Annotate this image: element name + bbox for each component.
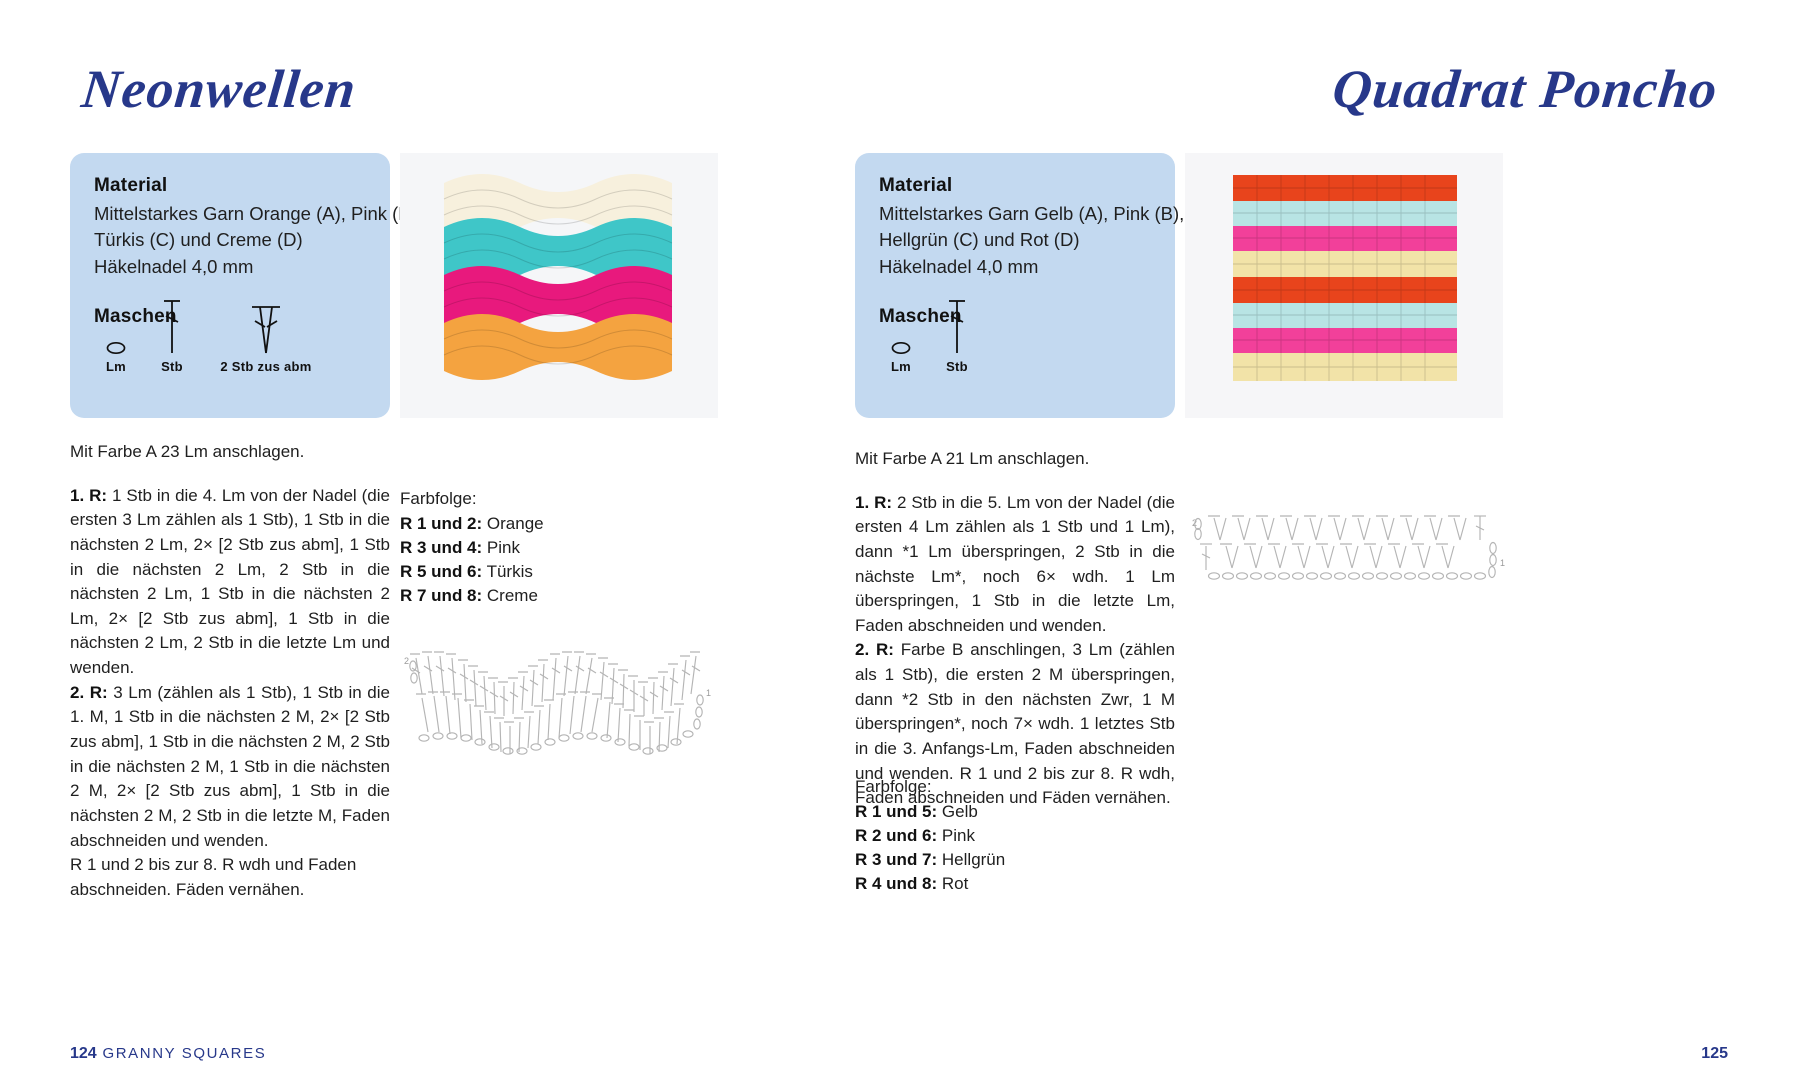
wave-swatch-graphic xyxy=(400,153,718,418)
row-text: 1 Stb in die 4. Lm von der Nadel (die er… xyxy=(70,486,390,677)
colorsequence-value: Orange xyxy=(487,514,544,533)
row-label: 1. R: xyxy=(855,493,892,512)
legend-label: Lm xyxy=(94,359,138,374)
intro-text-right: Mit Farbe A 21 Lm anschlagen. xyxy=(855,447,1175,472)
page-number-right: 125 xyxy=(1701,1045,1728,1062)
colorsequence-value: Gelb xyxy=(942,802,978,821)
colorsequence-value: Pink xyxy=(942,826,975,845)
chart-row-label-1: 1 xyxy=(1500,558,1505,568)
chain-stitch-icon xyxy=(879,299,923,355)
colorsequence-label: R 4 und 8: xyxy=(855,874,937,893)
row-label: 2. R: xyxy=(70,683,108,702)
crochet-chart-left: 2 1 xyxy=(400,630,720,755)
double-crochet-icon xyxy=(150,299,194,355)
colorsequence-label: R 5 und 6: xyxy=(400,562,482,581)
material-line: Türkis (C) und Creme (D) xyxy=(94,227,366,253)
legend-label: Stb xyxy=(935,359,979,374)
legend-item-dc2tog-left: 2 Stb zus abm xyxy=(206,299,326,374)
material-line: Mittelstarkes Garn Orange (A), Pink (B), xyxy=(94,201,366,227)
material-heading-left: Material xyxy=(94,175,366,197)
colorsequence-row: R 3 und 7: Hellgrün xyxy=(855,848,1175,872)
colorsequence-heading: Farbfolge: xyxy=(855,775,1175,800)
legend-label: Stb xyxy=(150,359,194,374)
legend-label: Lm xyxy=(879,359,923,374)
colorsequence-right: Farbfolge: R 1 und 5: Gelb R 2 und 6: Pi… xyxy=(855,775,1175,896)
material-line: Mittelstarkes Garn Gelb (A), Pink (B), xyxy=(879,201,1151,227)
colorsequence-label: R 1 und 5: xyxy=(855,802,937,821)
double-crochet-icon xyxy=(935,299,979,355)
colorsequence-value: Türkis xyxy=(487,562,533,581)
instructions-left: Mit Farbe A 23 Lm anschlagen. 1. R: 1 St… xyxy=(70,440,390,903)
footer-right: 125 xyxy=(1701,1045,1728,1063)
legend-item-dc-left: Stb xyxy=(150,299,194,374)
material-lines-right: Mittelstarkes Garn Gelb (A), Pink (B), H… xyxy=(879,201,1151,280)
chain-stitch-icon xyxy=(94,299,138,355)
legend-item-chain-right: Lm xyxy=(879,299,923,374)
row-text: 3 Lm (zählen als 1 Stb), 1 Stb in die 1.… xyxy=(70,683,390,850)
material-panel-left: Material Mittelstarkes Garn Orange (A), … xyxy=(70,153,390,418)
swatch-photo-left xyxy=(400,153,718,418)
stitch-legend-left: Lm Stb xyxy=(94,312,366,404)
square-swatch-graphic xyxy=(1185,153,1503,418)
colorsequence-row: R 4 und 8: Rot xyxy=(855,872,1175,896)
colorsequence-row: R 1 und 5: Gelb xyxy=(855,800,1175,824)
book-spread: Neonwellen Material Mittelstarkes Garn O… xyxy=(0,0,1800,1089)
material-panel-right: Material Mittelstarkes Garn Gelb (A), Pi… xyxy=(855,153,1175,418)
outro-text-left: R 1 und 2 bis zur 8. R wdh und Faden abs… xyxy=(70,853,390,902)
footer-label-left: GRANNY SQUARES xyxy=(102,1045,266,1062)
chart-row-label-1: 1 xyxy=(706,688,711,698)
row-instruction-2-left: 2. R: 3 Lm (zählen als 1 Stb), 1 Stb in … xyxy=(70,681,390,853)
colorsequence-label: R 2 und 6: xyxy=(855,826,937,845)
material-lines-left: Mittelstarkes Garn Orange (A), Pink (B),… xyxy=(94,201,366,280)
colorsequence-left: Farbfolge: R 1 und 2: Orange R 3 und 4: … xyxy=(400,487,650,608)
material-line: Hellgrün (C) und Rot (D) xyxy=(879,227,1151,253)
row-label: 2. R: xyxy=(855,640,894,659)
instructions-right: Mit Farbe A 21 Lm anschlagen. 1. R: 2 St… xyxy=(855,447,1175,811)
colorsequence-row: R 5 und 6: Türkis xyxy=(400,560,650,584)
colorsequence-value: Pink xyxy=(487,538,520,557)
legend-item-dc-right: Stb xyxy=(935,299,979,374)
swatch-photo-right xyxy=(1185,153,1503,418)
page-title-left: Neonwellen xyxy=(79,58,360,120)
page-number-left: 124 xyxy=(70,1045,97,1062)
colorsequence-row: R 3 und 4: Pink xyxy=(400,536,650,560)
intro-text-left: Mit Farbe A 23 Lm anschlagen. xyxy=(70,440,390,465)
colorsequence-value: Hellgrün xyxy=(942,850,1005,869)
row-instruction-1-left: 1. R: 1 Stb in die 4. Lm von der Nadel (… xyxy=(70,484,390,681)
colorsequence-value: Rot xyxy=(942,874,968,893)
material-heading-right: Material xyxy=(879,175,1151,197)
colorsequence-heading: Farbfolge: xyxy=(400,487,650,512)
colorsequence-row: R 1 und 2: Orange xyxy=(400,512,650,536)
footer-left: 124 GRANNY SQUARES xyxy=(70,1045,266,1063)
crochet-chart-right: 2 1 xyxy=(1190,490,1510,600)
colorsequence-label: R 7 und 8: xyxy=(400,586,482,605)
legend-item-chain-left: Lm xyxy=(94,299,138,374)
legend-label: 2 Stb zus abm xyxy=(206,359,326,374)
colorsequence-value: Creme xyxy=(487,586,538,605)
material-line: Häkelnadel 4,0 mm xyxy=(94,254,366,280)
colorsequence-label: R 3 und 7: xyxy=(855,850,937,869)
material-line: Häkelnadel 4,0 mm xyxy=(879,254,1151,280)
colorsequence-row: R 2 und 6: Pink xyxy=(855,824,1175,848)
row-instruction-1-right: 1. R: 2 Stb in die 5. Lm von der Nadel (… xyxy=(855,491,1175,639)
chart-row-label-2: 2 xyxy=(404,656,409,666)
colorsequence-label: R 1 und 2: xyxy=(400,514,482,533)
stitch-legend-right: Lm Stb xyxy=(879,312,1151,404)
colorsequence-label: R 3 und 4: xyxy=(400,538,482,557)
row-label: 1. R: xyxy=(70,486,107,505)
page-title-right: Quadrat Poncho xyxy=(1330,58,1721,120)
row-text: 2 Stb in die 5. Lm von der Nadel (die er… xyxy=(855,493,1175,635)
two-dc-together-icon xyxy=(206,299,326,355)
colorsequence-row: R 7 und 8: Creme xyxy=(400,584,650,608)
